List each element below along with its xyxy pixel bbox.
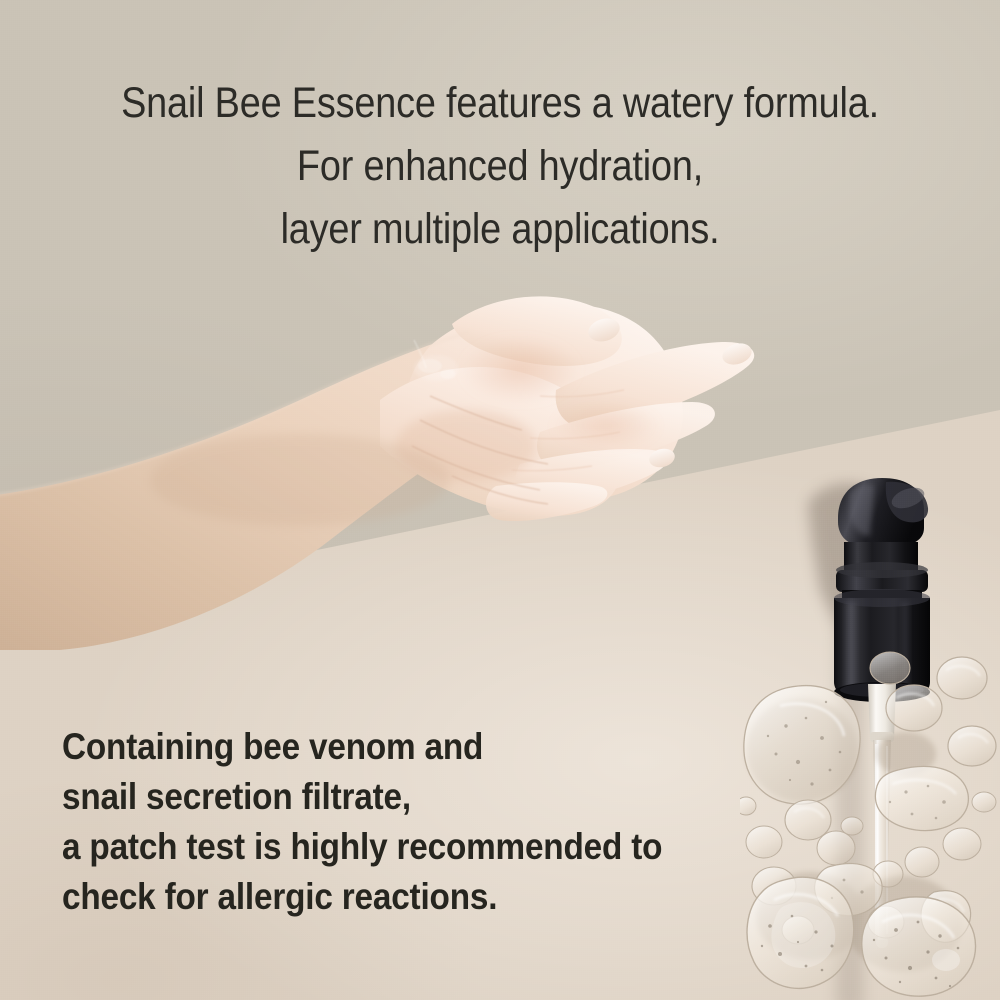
caution-text: Containing bee venom and snail secretion… <box>62 722 710 922</box>
promo-banner: Snail Bee Essence features a watery form… <box>0 0 1000 1000</box>
headline-line-2: For enhanced hydration, <box>60 135 940 198</box>
caution-line-4: check for allergic reactions. <box>62 872 710 922</box>
headline-line-1: Snail Bee Essence features a watery form… <box>60 72 940 135</box>
headline-text: Snail Bee Essence features a watery form… <box>60 72 940 261</box>
caution-line-2: snail secretion filtrate, <box>62 772 710 822</box>
headline-line-3: layer multiple applications. <box>60 198 940 261</box>
caution-line-1: Containing bee venom and <box>62 722 710 772</box>
caution-line-3: a patch test is highly recommended to <box>62 822 710 872</box>
